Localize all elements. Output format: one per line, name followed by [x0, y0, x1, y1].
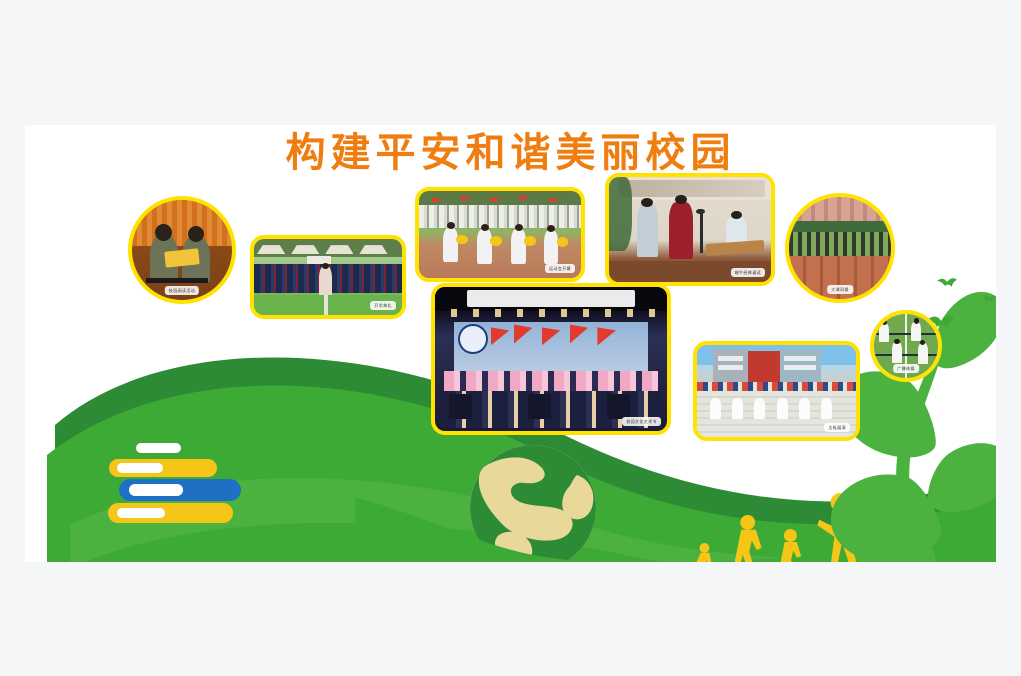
photo-caption: 广播体操 [893, 364, 919, 373]
photo-caption: 端午经典诵读 [731, 268, 765, 277]
photo-caption: 太极展演 [824, 423, 850, 432]
photo-student-assembly[interactable]: 开学典礼 [250, 235, 406, 319]
photo-caption: 校园文化艺术节 [622, 417, 661, 426]
photo-art-gala[interactable]: 校园文化艺术节 [431, 283, 671, 435]
photo-radio-gymnastics[interactable]: 广播体操 [870, 310, 942, 382]
photo-caption: 开学典礼 [370, 301, 396, 310]
photo-classic-recitation[interactable]: 端午经典诵读 [605, 173, 775, 286]
poster-canvas: 构建平安和谐美丽校园 校园阅读活动 [0, 0, 1021, 676]
poster-title: 构建平安和谐美丽校园 [25, 133, 996, 173]
photo-taiji-performance[interactable]: 太极展演 [693, 341, 860, 441]
photo-caption: 运动会开幕 [545, 264, 575, 273]
photo-caption: 大课间操 [827, 285, 853, 294]
poster-board: 构建平安和谐美丽校园 校园阅读活动 [25, 125, 996, 562]
photo-morning-exercise[interactable]: 大课间操 [785, 193, 895, 303]
photo-cheerleading[interactable]: 运动会开幕 [415, 187, 585, 282]
photo-reading-girls[interactable]: 校园阅读活动 [128, 196, 236, 304]
photo-caption: 校园阅读活动 [165, 286, 199, 295]
